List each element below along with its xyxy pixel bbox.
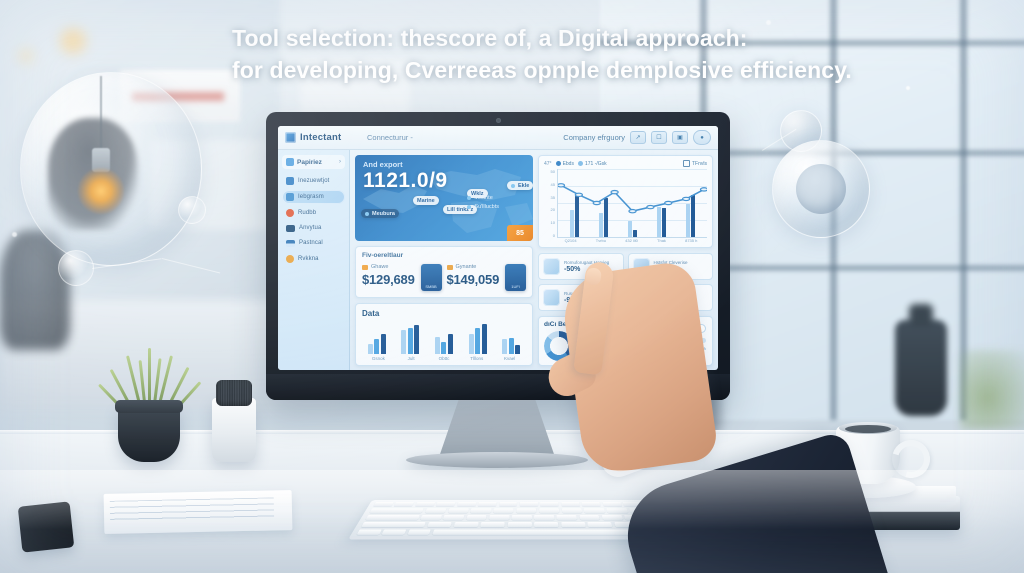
bar [441,342,446,354]
combo-line-series [558,169,707,237]
bar-group [502,321,520,354]
left-column: And export 1121.0/9 Ekle ermva Marine [355,155,533,366]
legend-dot-icon [467,196,471,200]
bokeh-light [60,28,86,54]
paper-stack [104,490,293,534]
combo-legend-1[interactable]: Ebds [556,161,574,167]
bar [401,330,406,354]
map-legend-label: Su'lllucbts [474,204,499,210]
x-tick: 8735 h [685,238,697,243]
pill-dot-icon [365,212,369,216]
lightbulb-icon [78,168,124,214]
map-legend-item: Mounte [467,195,499,201]
combo-chart-card: 47° Ebds 171 -/Gsk TFnvls 5045 [538,155,713,248]
sidebar-item-label: Pastncal [299,240,323,246]
sidebar-item-label: Iebgrasm [298,194,324,200]
sidebar-item-2[interactable]: Rudbb [282,206,345,220]
glass-bubble [58,250,94,286]
status-badge: 85 [507,225,533,241]
kpi-art-label: 1UFl [511,284,519,289]
webcam-icon [496,118,501,123]
kpi-caption: Ghawe [371,264,388,270]
map-pill[interactable]: Meubura [361,209,399,218]
bar [509,338,514,355]
kpi-value: $149,059 [447,272,501,287]
legend-label: 171 -/Gsk [585,161,607,167]
combo-xaxis: Q2104Tvrbu432 lll0Thak8735 h [544,238,707,243]
bar [368,344,373,354]
monitor-stand-base [406,452,588,468]
combo-plot: 50453520100 [544,169,707,238]
headline: Tool selection: thescore of, a Digital a… [232,22,872,86]
sidebar-top-label: Papiriez [297,159,322,166]
pill-label: Ekle [518,183,529,189]
bar [374,339,379,354]
folder-icon [286,158,294,166]
hero-value: 1121.0/9 [363,169,448,193]
display-icon [286,225,295,232]
sidebar-item-5[interactable]: Rvkkna [282,251,345,265]
chart-title: Data [362,309,526,318]
settings-icon [286,255,294,263]
kpi-art-label: SMBB [425,284,436,289]
wireframe-globe-icon [796,164,846,214]
phone-icon: SMBB [421,264,442,291]
background-vase [895,320,947,416]
y-tick: 35 [551,195,555,200]
map-hero-panel[interactable]: And export 1121.0/9 Ekle ermva Marine [355,155,533,241]
kpi-tag-icon [362,265,368,270]
map-legend: Mounte Su'lllucbts [467,195,499,210]
screenshot-icon[interactable]: ▣ [672,131,688,144]
y-tick: 50 [551,169,555,174]
bar [475,328,480,354]
kpi-tag: Gynante [447,264,501,270]
bar-xlabel: Tlllons [465,356,489,361]
scene-root: Tool selection: thescore of, a Digital a… [0,0,1024,573]
share-icon[interactable]: ↗ [630,131,646,144]
kpi-row: Ghawe $129,689 SMBB [362,264,526,291]
bar-group [368,321,386,354]
combo-right-label[interactable]: TFnvls [683,160,707,167]
legend-label: Ebds [563,161,574,167]
bar-chart-plot [362,321,526,356]
sidebar-item-label: Rudbb [298,210,316,216]
kpi-tag: Ghawe [362,264,416,270]
x-tick: Tvrbu [596,238,606,243]
y-tick: 45 [551,182,555,187]
topbar-label: Company efrguory [563,133,625,142]
sidebar: Papiriez › Inezuewtjot Iebgrasm Rudbb [278,150,350,370]
chart-icon [286,193,294,201]
glass-bubble [178,196,206,224]
bar [515,345,520,354]
bar [381,334,386,354]
plant-pot [118,404,180,462]
combo-tiny-label: 47° [544,161,552,167]
kpi-card-title: Fiv-oereltlaur [362,252,526,259]
sidebar-item-1[interactable]: Iebgrasm [282,190,345,204]
legend-dot-icon [556,161,561,166]
data-bar-chart: Data GsnokJultObttcTlllonsKvael [355,303,533,366]
network-node-dot [906,86,910,90]
sidebar-item-3[interactable]: Anvytua [282,222,345,235]
app-brand[interactable]: Intectant [285,132,367,143]
headline-line-2: for developing, Cverreeas opnple demplos… [232,54,872,86]
cloud-icon [543,258,560,275]
x-tick: Thak [657,238,666,243]
pill-label: Meubura [372,211,395,217]
speaker-grille [216,380,252,406]
breadcrumb[interactable]: Connecturur - [367,133,413,142]
app-logo-icon [285,132,296,143]
bulb-wire [100,76,102,150]
sidebar-item-label: Anvytua [299,225,321,231]
kpi-card: Fiv-oereltlaur Ghawe $129,689 [355,246,533,298]
bar-group [435,321,453,354]
save-icon[interactable]: ☐ [651,131,667,144]
bar-chart-xaxis: GsnokJultObttcTlllonsKvael [362,356,526,361]
dashboard-icon [286,177,294,185]
bar [435,337,440,354]
bokeh-light [18,48,34,64]
kpi-tag-icon [447,265,453,270]
app-brand-name: Intectant [300,132,341,143]
network-node-dot [12,232,17,237]
card-icon [286,240,295,247]
sidebar-item-label: Inezuewtjot [298,178,329,184]
flame-icon [286,209,294,217]
map-legend-item: Su'lllucbts [467,204,499,210]
bar [469,334,474,354]
bar-xlabel: Kvael [498,356,522,361]
x-tick: Q2104 [565,238,577,243]
tablet-icon: 1UFl [505,264,526,291]
desk-speaker [212,398,256,462]
sidebar-top-item[interactable]: Papiriez › [282,155,345,169]
smartphone [18,501,75,552]
bar [482,324,487,354]
kpi-caption: Gynante [456,264,477,270]
filter-icon [683,160,690,167]
x-tick: 432 lll0 [625,238,638,243]
pill-dot-icon [511,184,515,188]
chevron-right-icon: › [339,159,341,165]
legend-dot-icon [467,205,471,209]
hero-title: And export [363,160,403,169]
topbar-actions: Company efrguory ↗ ☐ ▣ ● [563,130,711,145]
y-tick: 10 [551,220,555,225]
pill-label: Marine [417,198,435,204]
person-icon [543,289,560,306]
map-legend-label: Mounte [474,195,492,201]
bar-xlabel: Jult [399,356,423,361]
sidebar-item-0[interactable]: Inezuewtjot [282,174,345,188]
background-plant [960,350,1024,430]
bar-group [469,321,487,354]
kpi-value: $129,689 [362,272,416,287]
y-tick: 20 [551,207,555,212]
sidebar-item-4[interactable]: Pastncal [282,237,345,250]
combo-plot-area [557,169,707,238]
combo-chart-header: 47° Ebds 171 -/Gsk TFnvls [544,160,707,167]
sidebar-item-label: Rvkkna [298,256,319,262]
bar-group [401,321,419,354]
bar [408,328,413,354]
combo-legend-2[interactable]: 171 -/Gsk [578,161,607,167]
map-pill[interactable]: Marine [413,196,439,205]
bar-xlabel: Obttc [432,356,456,361]
app-topbar: Intectant Connecturur - Company efrguory… [278,126,718,150]
combo-yaxis: 50453520100 [544,169,557,238]
map-pill[interactable]: Ekle [507,181,533,190]
profile-icon[interactable]: ● [693,130,711,145]
bar-xlabel: Gsnok [366,356,390,361]
legend-dot-icon [578,161,583,166]
headline-line-1: Tool selection: thescore of, a Digital a… [232,22,872,54]
kpi-item-0: Ghawe $129,689 [362,264,416,291]
bar [414,325,419,354]
kpi-item-1: Gynante $149,059 [447,264,501,291]
bar [448,334,453,354]
combo-right-text: TFnvls [692,161,707,167]
bar [502,339,507,354]
